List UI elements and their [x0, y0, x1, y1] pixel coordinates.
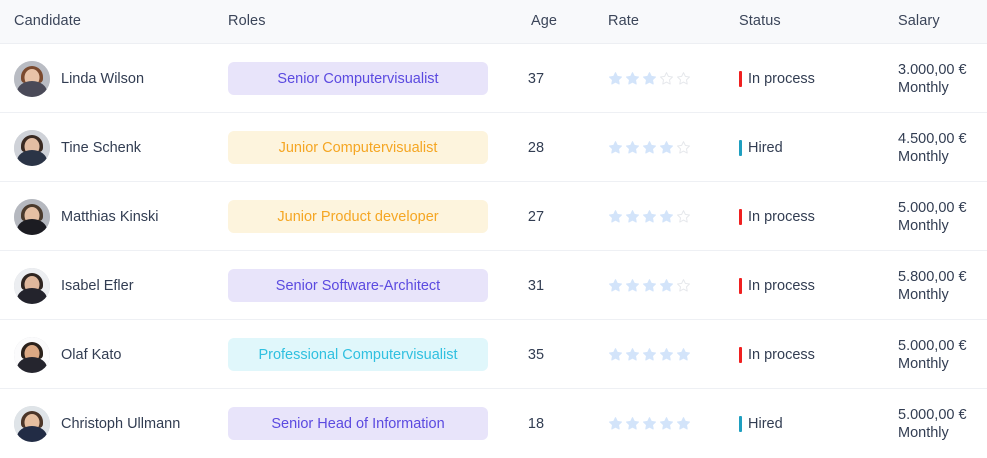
salary-amount: 5.000,00 €: [898, 199, 967, 217]
cell-roles: Junior Product developer: [228, 182, 488, 251]
status-indicator-bar: [739, 71, 742, 87]
table-row[interactable]: Christoph UllmannSenior Head of Informat…: [0, 389, 987, 458]
rating-stars[interactable]: [608, 140, 691, 155]
role-badge[interactable]: Senior Computervisualist: [228, 62, 488, 95]
cell-salary: 5.000,00 €Monthly: [898, 389, 967, 458]
cell-roles: Professional Computervisualist: [228, 320, 488, 389]
rating-stars[interactable]: [608, 209, 691, 224]
column-header-roles[interactable]: Roles: [228, 13, 266, 29]
status-indicator-bar: [739, 416, 742, 432]
cell-candidate[interactable]: Tine Schenk: [14, 113, 141, 182]
role-badge[interactable]: Senior Software-Architect: [228, 269, 488, 302]
column-header-status[interactable]: Status: [739, 13, 781, 29]
cell-candidate[interactable]: Christoph Ullmann: [14, 389, 180, 458]
status-indicator-bar: [739, 278, 742, 294]
rating-stars[interactable]: [608, 71, 691, 86]
role-badge[interactable]: Junior Product developer: [228, 200, 488, 233]
cell-age: 31: [500, 251, 572, 320]
cell-roles: Senior Software-Architect: [228, 251, 488, 320]
table-row[interactable]: Olaf KatoProfessional Computervisualist3…: [0, 320, 987, 389]
rating-stars[interactable]: [608, 278, 691, 293]
status-badge: In process: [748, 71, 815, 87]
salary-period: Monthly: [898, 355, 967, 373]
status-indicator-bar: [739, 347, 742, 363]
cell-salary: 5.000,00 €Monthly: [898, 182, 967, 251]
candidates-table: Candidate Roles Age Rate Status Salary L…: [0, 0, 987, 454]
avatar-matthias-kinski: [14, 199, 50, 235]
status-badge: Hired: [748, 416, 783, 432]
salary-amount: 5.800,00 €: [898, 268, 967, 286]
avatar-isabel-efler: [14, 268, 50, 304]
cell-age: 18: [500, 389, 572, 458]
role-badge[interactable]: Senior Head of Information: [228, 407, 488, 440]
cell-rate[interactable]: [608, 320, 691, 389]
column-header-salary[interactable]: Salary: [898, 13, 940, 29]
cell-age: 37: [500, 44, 572, 113]
cell-salary: 3.000,00 €Monthly: [898, 44, 967, 113]
cell-age: 27: [500, 182, 572, 251]
candidate-name: Olaf Kato: [61, 347, 121, 363]
cell-salary: 5.800,00 €Monthly: [898, 251, 967, 320]
table-row[interactable]: Tine SchenkJunior Computervisualist28Hir…: [0, 113, 987, 182]
cell-roles: Junior Computervisualist: [228, 113, 488, 182]
avatar-christoph-ullmann: [14, 406, 50, 442]
cell-age: 28: [500, 113, 572, 182]
cell-candidate[interactable]: Matthias Kinski: [14, 182, 159, 251]
cell-status: In process: [739, 44, 815, 113]
cell-roles: Senior Computervisualist: [228, 44, 488, 113]
status-badge: In process: [748, 278, 815, 294]
salary-amount: 3.000,00 €: [898, 61, 967, 79]
cell-candidate[interactable]: Linda Wilson: [14, 44, 144, 113]
candidate-name: Isabel Efler: [61, 278, 134, 294]
salary-period: Monthly: [898, 424, 967, 442]
status-badge: Hired: [748, 140, 783, 156]
salary-amount: 5.000,00 €: [898, 406, 967, 424]
salary-period: Monthly: [898, 286, 967, 304]
salary-amount: 5.000,00 €: [898, 337, 967, 355]
role-badge[interactable]: Professional Computervisualist: [228, 338, 488, 371]
column-header-rate[interactable]: Rate: [608, 13, 639, 29]
cell-rate[interactable]: [608, 251, 691, 320]
candidate-name: Linda Wilson: [61, 71, 144, 87]
candidate-name: Tine Schenk: [61, 140, 141, 156]
salary-period: Monthly: [898, 217, 967, 235]
cell-salary: 4.500,00 €Monthly: [898, 113, 967, 182]
table-row[interactable]: Matthias KinskiJunior Product developer2…: [0, 182, 987, 251]
status-badge: In process: [748, 209, 815, 225]
table-header-row: Candidate Roles Age Rate Status Salary: [0, 0, 987, 44]
status-indicator-bar: [739, 140, 742, 156]
rating-stars[interactable]: [608, 416, 691, 431]
cell-candidate[interactable]: Isabel Efler: [14, 251, 134, 320]
cell-status: In process: [739, 251, 815, 320]
cell-roles: Senior Head of Information: [228, 389, 488, 458]
table-body: Linda WilsonSenior Computervisualist37In…: [0, 44, 987, 458]
cell-status: Hired: [739, 389, 783, 458]
salary-amount: 4.500,00 €: [898, 130, 967, 148]
cell-status: In process: [739, 182, 815, 251]
role-badge[interactable]: Junior Computervisualist: [228, 131, 488, 164]
table-row[interactable]: Isabel EflerSenior Software-Architect31I…: [0, 251, 987, 320]
cell-rate[interactable]: [608, 113, 691, 182]
avatar-linda-wilson: [14, 61, 50, 97]
status-badge: In process: [748, 347, 815, 363]
cell-rate[interactable]: [608, 44, 691, 113]
cell-age: 35: [500, 320, 572, 389]
salary-period: Monthly: [898, 148, 967, 166]
cell-rate[interactable]: [608, 182, 691, 251]
avatar-olaf-kato: [14, 337, 50, 373]
cell-status: Hired: [739, 113, 783, 182]
avatar-tine-schenk: [14, 130, 50, 166]
cell-salary: 5.000,00 €Monthly: [898, 320, 967, 389]
column-header-age[interactable]: Age: [531, 13, 557, 29]
table-row[interactable]: Linda WilsonSenior Computervisualist37In…: [0, 44, 987, 113]
status-indicator-bar: [739, 209, 742, 225]
cell-candidate[interactable]: Olaf Kato: [14, 320, 121, 389]
candidate-name: Christoph Ullmann: [61, 416, 180, 432]
column-header-candidate[interactable]: Candidate: [14, 13, 81, 29]
cell-rate[interactable]: [608, 389, 691, 458]
candidate-name: Matthias Kinski: [61, 209, 159, 225]
cell-status: In process: [739, 320, 815, 389]
rating-stars[interactable]: [608, 347, 691, 362]
salary-period: Monthly: [898, 79, 967, 97]
